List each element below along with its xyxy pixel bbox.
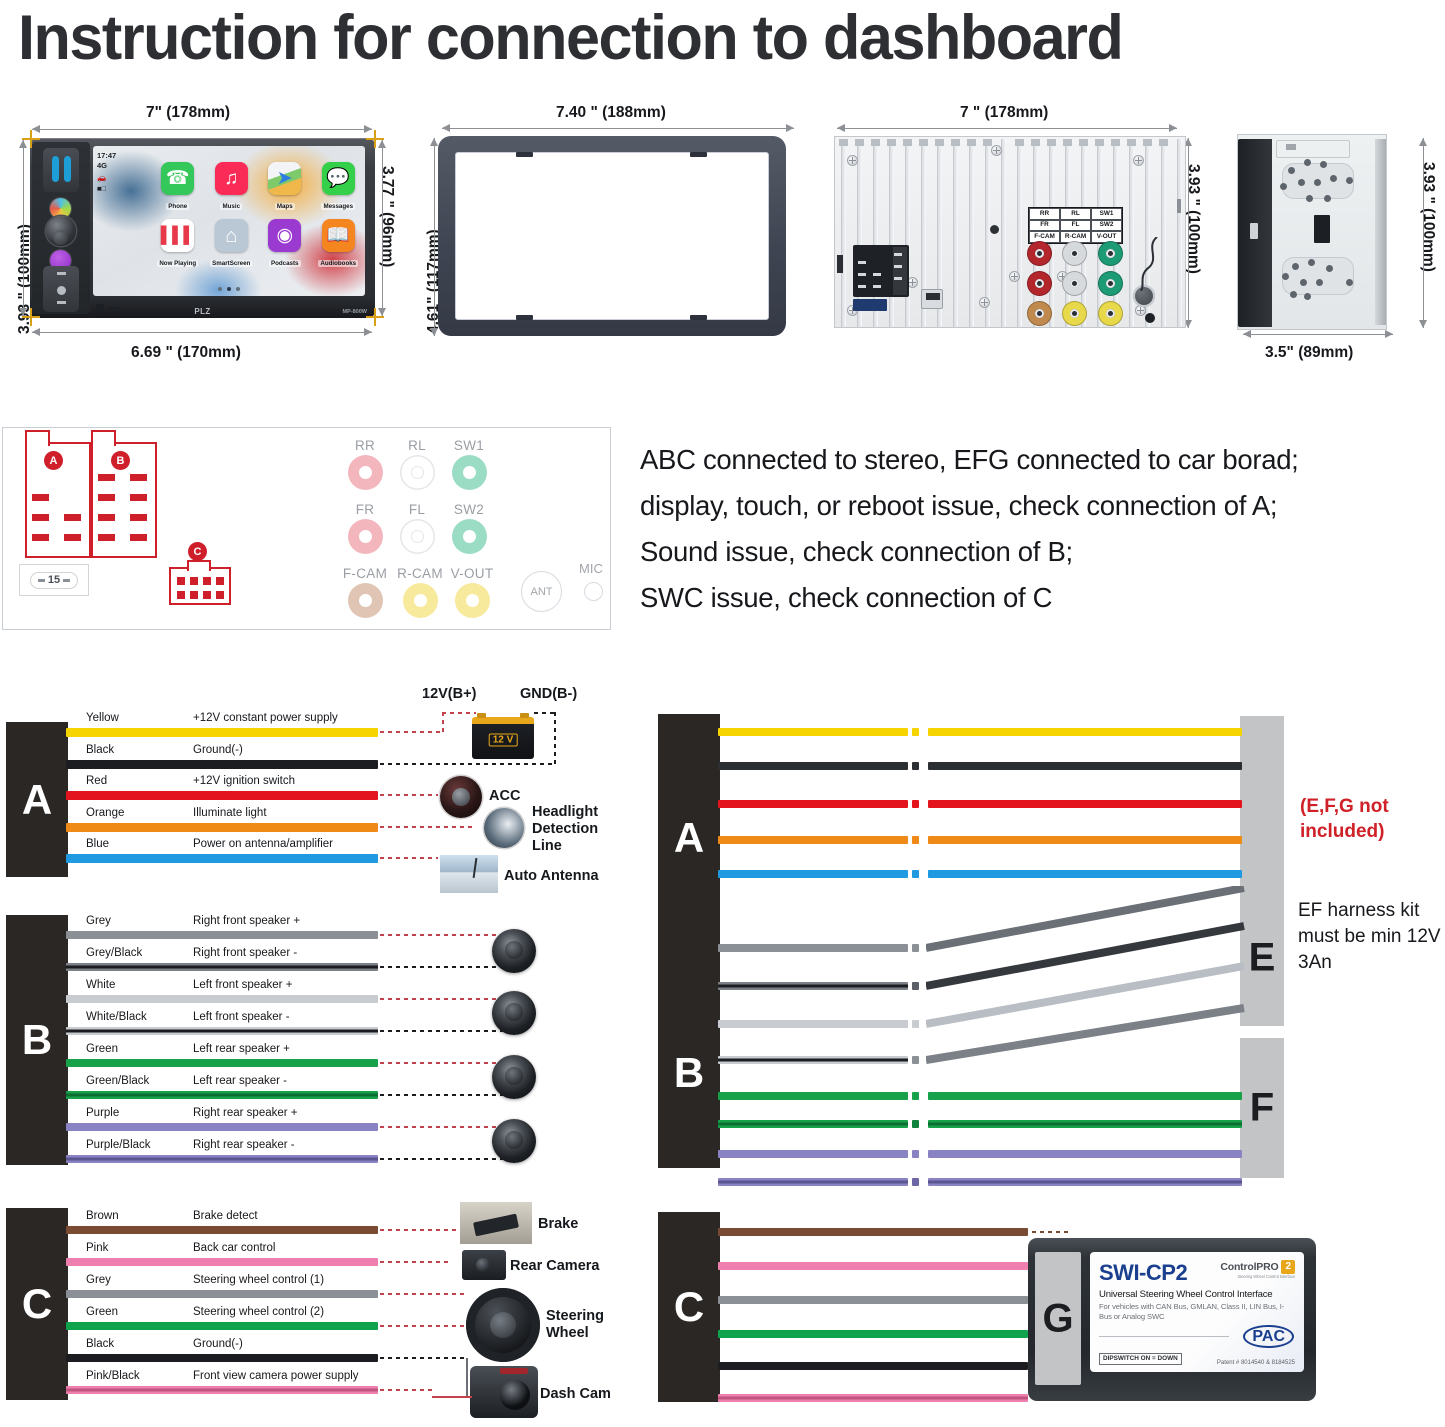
wire-name: Blue [86, 838, 109, 850]
rear-rca-jacks [1027, 241, 1125, 326]
wire-name: Black [86, 1338, 114, 1350]
wire-name: Green [86, 1043, 118, 1055]
wire-function: Right front speaker - [193, 947, 297, 959]
right-wire-pink-black-c [718, 1394, 1028, 1402]
menu-button[interactable] [96, 304, 120, 312]
wire-name: Purple/Black [86, 1139, 151, 1151]
app-audiobooks[interactable]: 📖 Audiobooks [316, 219, 362, 270]
wire-function: +12V ignition switch [193, 775, 295, 787]
status-clock: 17:47 [97, 151, 116, 161]
app-label: Podcasts [269, 260, 301, 267]
mic-socket[interactable] [584, 582, 603, 601]
mic-label: MIC [579, 561, 603, 576]
corner-mark-tr [366, 130, 384, 148]
app-music[interactable]: ♫ Music [209, 162, 255, 213]
side-view-faceplate [1238, 139, 1272, 327]
wire-black-ground [66, 1354, 378, 1362]
harness-b-diagram: B Grey Right front speaker + Grey/Black … [0, 905, 620, 1170]
dim-top-label-chassis: 7 " (178mm) [960, 104, 1048, 122]
wire-green [66, 1059, 378, 1067]
rear-camera-label: Rear Camera [510, 1258, 599, 1275]
wire-function: Back car control [193, 1242, 275, 1254]
maps-icon: ➤ [268, 162, 301, 195]
wire-function: Left rear speaker - [193, 1075, 287, 1087]
battery-negative-trace [534, 712, 556, 714]
right-wire-green-black-2 [928, 1120, 1242, 1128]
dimension-panel-rear-chassis: 7 " (178mm) 3.93 " (100mm) [820, 96, 1220, 386]
status-bar: 17:47 4G 🚗 ■□ [97, 151, 116, 195]
wire-b-dots-6 [380, 1094, 506, 1096]
wire-b-dots-1 [380, 934, 506, 936]
rca-jack-sw1[interactable] [1098, 241, 1123, 266]
jack-label: RL [1060, 208, 1091, 220]
brake-pedal-icon [460, 1202, 532, 1244]
steering-wheel-label-text: Steering Wheel [546, 1308, 604, 1341]
wire-function: Right rear speaker + [193, 1107, 298, 1119]
right-wire-white-black [718, 1056, 908, 1064]
dim-arrow-right [382, 140, 383, 316]
wire-name: Pink/Black [86, 1370, 140, 1382]
messages-icon: 💬 [322, 162, 355, 195]
jack-label: FR [339, 502, 391, 517]
chassis-screw-mm [1009, 271, 1020, 282]
antenna-socket[interactable]: ANT [521, 571, 562, 612]
wire-grey [66, 931, 378, 939]
harness-c-block: C [6, 1208, 68, 1400]
wire-a-dots-yellow [380, 731, 442, 733]
app-label: Maps [275, 203, 295, 210]
panel-jack-rcam[interactable]: R-CAM [389, 566, 451, 618]
app-smartscreen[interactable]: ⌂ SmartScreen [209, 219, 255, 270]
connector-panel: A B 15 C RR RL [2, 427, 611, 630]
dim-arrow-top [837, 128, 1177, 129]
wire-yellow [66, 728, 378, 737]
wire-name: Pink [86, 1242, 108, 1254]
swi-description: For vehicles with CAN Bus, GMLAN, Class … [1099, 1302, 1295, 1322]
wire-purple [66, 1123, 378, 1131]
jack-label: FR [1029, 220, 1060, 232]
panel-jack-fl[interactable]: FL [391, 502, 443, 554]
wire-orange [66, 823, 378, 832]
module-g-tab: G [1035, 1252, 1081, 1385]
dim-top-label-head-unit: 7" (178mm) [146, 104, 230, 122]
note-efg-text: (E,F,G not included) [1300, 796, 1389, 842]
wire-white-black [66, 1027, 378, 1035]
jack-label: SW1 [443, 438, 495, 453]
audiobooks-icon: 📖 [322, 219, 355, 252]
dash-cam-label: Dash Cam [540, 1386, 611, 1403]
right-wire-brown [718, 1228, 1028, 1236]
power-negative-label: GND(B-) [520, 686, 577, 702]
jack-ring [348, 583, 383, 618]
wire-function: Right rear speaker - [193, 1139, 295, 1151]
wire-c-dots-6 [380, 1389, 434, 1391]
right-block-b-letter: B [674, 1049, 704, 1097]
jack-label: RR [1029, 208, 1060, 220]
wire-function: Brake detect [193, 1210, 258, 1222]
frame-tab-bl [516, 315, 533, 320]
rca-jack-rr[interactable] [1027, 241, 1052, 266]
patent-note: Patent # 8014540 & 8184525 [1217, 1360, 1295, 1366]
dim-arrow-left [23, 140, 24, 316]
right-wire-black-c [718, 1362, 1028, 1370]
wiring-connector-block[interactable] [853, 245, 909, 297]
chassis-screw-tr [1133, 155, 1144, 166]
harness-a-letter: A [22, 776, 52, 824]
dim-arrow-top [442, 128, 794, 129]
frame-tab-tr [690, 152, 707, 157]
panel-jack-sw2[interactable]: SW2 [443, 502, 495, 554]
right-wire-red [718, 800, 908, 808]
dim-right-label-chassis: 3.93 " (100mm) [1184, 164, 1202, 274]
heatsink-fins [835, 137, 1185, 329]
wire-function: Ground(-) [193, 1338, 243, 1350]
app-label: Phone [166, 203, 189, 210]
right-block-e: E [1240, 716, 1284, 1026]
wire-red [66, 791, 378, 800]
wire-function: Right front speaker + [193, 915, 300, 927]
wire-pink-black [66, 1386, 378, 1394]
rca-jack-sw2[interactable] [1098, 271, 1123, 296]
app-label: Messages [321, 203, 355, 210]
antenna-wire [1135, 237, 1165, 291]
jack-ring [400, 455, 435, 490]
auto-antenna-label: Auto Antenna [504, 868, 599, 885]
connector-c-shape [169, 567, 231, 605]
wire-function: Left rear speaker + [193, 1043, 290, 1055]
phone-icon: ☎ [161, 162, 194, 195]
jack-ring [452, 455, 487, 490]
right-wire-purple-2 [928, 1150, 1242, 1158]
rca-jack-fcam[interactable] [1027, 301, 1052, 326]
right-wire-white [718, 1020, 908, 1028]
right-wire-green-c [718, 1330, 1028, 1338]
harness-c-letter: C [22, 1280, 52, 1328]
connector-c-badge: C [188, 542, 207, 561]
rca-jack-vout[interactable] [1098, 301, 1123, 326]
side-view-rear-edge [1375, 139, 1386, 325]
wire-green-swc2 [66, 1322, 378, 1330]
jack-ring [400, 519, 435, 554]
page-title: Instruction for connection to dashboard [18, 2, 1395, 74]
wire-function: Illuminate light [193, 807, 267, 819]
rear-camera-icon [462, 1250, 506, 1280]
right-block-e-letter: E [1249, 935, 1276, 980]
carplay-app-grid: ☎ Phone ♫ Music ➤ Maps 💬 Messages [155, 162, 361, 270]
wire-purple-black [66, 1155, 378, 1163]
dim-top-label-frame: 7.40 " (188mm) [556, 104, 666, 122]
app-label: Now Playing [157, 260, 198, 267]
instruction-line-2: display, touch, or reboot issue, check c… [640, 483, 1440, 529]
right-wire-pink [718, 1262, 1028, 1270]
battery-icon: 12 V [472, 717, 534, 759]
right-wire-green [718, 1092, 908, 1100]
panel-jack-fcam[interactable]: F-CAM [333, 566, 397, 618]
wire-function: Steering wheel control (2) [193, 1306, 324, 1318]
connector-a-badge: A [44, 451, 63, 470]
wire-a-dots-orange [380, 826, 472, 828]
wire-name: Purple [86, 1107, 119, 1119]
panel-jack-fr[interactable]: FR [339, 502, 391, 554]
right-block-a-letter: A [674, 814, 704, 862]
right-wire-red-2 [928, 800, 1242, 808]
app-podcasts[interactable]: ◉ Podcasts [262, 219, 308, 270]
speaker-icon [492, 1119, 536, 1163]
harness-b-block: B [6, 915, 68, 1165]
podcasts-icon: ◉ [268, 219, 301, 252]
dipswitch-note: DIPSWITCH ON = DOWN [1099, 1353, 1182, 1365]
side-view-body [1237, 134, 1387, 330]
headlight-label-text: Headlight Detection Line [532, 804, 598, 854]
steering-wheel-icon [466, 1288, 540, 1362]
jack-ring [348, 455, 383, 490]
harness-c-diagram: C Brown Brake detect Pink Back car contr… [0, 1198, 620, 1423]
right-wire-purple-black-2 [928, 1178, 1242, 1186]
wire-c-dots-1 [380, 1229, 460, 1231]
frame-tab-tl [516, 152, 533, 157]
jack-label: FL [391, 502, 443, 517]
wire-b-dots-5 [380, 1062, 506, 1064]
wire-name: Grey [86, 1274, 111, 1286]
app-now-playing[interactable]: ▌▌▌ Now Playing [155, 219, 201, 270]
controlpro-badge: 2 [1281, 1260, 1295, 1274]
rca-jack-fr[interactable] [1027, 271, 1052, 296]
trim-frame-outer [438, 136, 786, 336]
status-signal: 4G [97, 161, 116, 171]
chassis-screw-bm [979, 297, 990, 308]
chassis-screw-tm [991, 145, 1002, 156]
steering-wheel-label: Steering Wheel [546, 1308, 616, 1342]
wire-c-dots-2 [380, 1261, 452, 1263]
app-maps[interactable]: ➤ Maps [262, 162, 308, 213]
instruction-line-1: ABC connected to stereo, EFG connected t… [640, 437, 1440, 483]
pac-logo: PAC [1243, 1325, 1294, 1348]
usb-port[interactable] [921, 289, 943, 309]
fuse-amp-value: 15 [48, 574, 60, 586]
connector-b-badge: B [111, 451, 130, 470]
trim-frame-opening [455, 152, 769, 320]
speaker-icon [492, 929, 536, 973]
dots-brown-to-g [1032, 1231, 1072, 1233]
right-block-f: F [1240, 1038, 1284, 1178]
app-messages[interactable]: 💬 Messages [316, 162, 362, 213]
jack-ring [455, 583, 490, 618]
jack-label: V-OUT [443, 566, 501, 581]
right-wire-grey-black [718, 982, 908, 990]
wire-function: +12V constant power supply [193, 712, 338, 724]
right-wire-purple-black [718, 1178, 908, 1186]
volume-knob-center [53, 230, 68, 245]
volume-knob[interactable] [46, 216, 76, 246]
wire-name: Red [86, 775, 107, 787]
head-unit-button-top[interactable] [43, 148, 79, 192]
wire-name: Green/Black [86, 1075, 149, 1087]
right-wire-green-2 [928, 1092, 1242, 1100]
wire-function: Left front speaker + [193, 979, 292, 991]
wire-c-dots-3 [380, 1293, 466, 1295]
jack-label: RR [339, 438, 391, 453]
jack-label: FL [1060, 220, 1091, 232]
dimension-panels-row: 7" (178mm) 3.93 " (100mm) 3.77 " (96mm) … [0, 96, 1445, 386]
right-wire-yellow-2 [928, 728, 1242, 736]
dim-arrow-top [32, 129, 372, 130]
wire-name: White [86, 979, 115, 991]
rear-jack-label-grid: RR RL SW1 FR FL SW2 F-CAM R-CAM V-OUT [1028, 207, 1123, 244]
app-label: SmartScreen [210, 260, 252, 267]
right-wire-blue [718, 870, 908, 878]
wire-b-dots-3 [380, 998, 506, 1000]
corner-mark-bl [22, 308, 40, 326]
acc-label: ACC [489, 788, 520, 805]
wire-function: Front view camera power supply [193, 1370, 359, 1382]
controlpro-brand: ControlPRO [1220, 1261, 1278, 1273]
right-wire-orange [718, 836, 908, 844]
power-positive-label: 12V(B+) [422, 686, 476, 702]
jack-label: SW2 [443, 502, 495, 517]
harness-b-letter: B [22, 1016, 52, 1064]
wire-a-dots-black [380, 763, 556, 765]
right-wire-grey [718, 944, 908, 952]
now-playing-icon: ▌▌▌ [161, 219, 194, 252]
acc-ignition-icon [440, 776, 482, 818]
music-icon: ♫ [215, 162, 248, 195]
wire-function: Steering wheel control (1) [193, 1274, 324, 1286]
wire-b-dots-8 [380, 1158, 506, 1160]
panel-jack-rl[interactable]: RL [391, 438, 443, 490]
dimension-panel-side-view: 3.93 " (100mm) 3.5" (89mm) [1215, 96, 1445, 386]
wire-c-dots-4 [380, 1325, 466, 1327]
wire-name: Grey/Black [86, 947, 142, 959]
instruction-line-3: Sound issue, check connection of B; [640, 529, 1440, 575]
wire-green-black [66, 1091, 378, 1099]
panel-jack-sw1[interactable]: SW1 [443, 438, 495, 490]
right-wire-yellow [718, 728, 908, 736]
jack-label: SW2 [1091, 220, 1122, 232]
corner-mark-tl [22, 130, 40, 148]
wire-c-dots-5 [380, 1357, 466, 1359]
speaker-icon [492, 991, 536, 1035]
wire-function: Left front speaker - [193, 1011, 290, 1023]
dim-arrow-bottom [1243, 334, 1393, 335]
right-block-c: C [658, 1212, 720, 1402]
dim-arrow-bottom [32, 332, 372, 333]
side-view-slot [1314, 215, 1330, 243]
app-label: Music [220, 203, 242, 210]
swi-cp2-module: G SWI-CP2 ControlPRO 2 Steering Wheel Co… [1028, 1238, 1316, 1401]
wire-a-dots-blue [380, 857, 438, 859]
dimension-panel-trim-frame: 7.40 " (188mm) 4.61" (117mm) 3.81 " (97m… [410, 96, 820, 386]
wire-pink [66, 1258, 378, 1266]
crossing-wires-to-e [926, 886, 1246, 1076]
note-ef-harness-kit: EF harness kit must be min 12V 3An [1298, 898, 1445, 976]
head-unit-body: 17:47 4G 🚗 ■□ ☎ Phone ♫ Music ➤ [30, 138, 375, 318]
page-indicator-dots [218, 287, 240, 291]
head-unit-button-bottom[interactable] [43, 266, 79, 312]
head-unit-left-rail [32, 142, 90, 314]
wire-name: Yellow [86, 712, 119, 724]
head-unit-model: MP-800W [343, 309, 367, 315]
right-wire-blue-2 [928, 870, 1242, 878]
auto-antenna-icon [440, 855, 498, 893]
jack-label: SW1 [1091, 208, 1122, 220]
wire-grey-swc1 [66, 1290, 378, 1298]
rca-jack-fl[interactable] [1062, 271, 1087, 296]
fuse-rating: 15 [30, 572, 78, 589]
dimension-panel-head-unit: 7" (178mm) 3.93 " (100mm) 3.77 " (96mm) … [0, 96, 400, 386]
panel-jack-rr[interactable]: RR [339, 438, 391, 490]
swi-model: SWI-CP2 [1099, 1260, 1187, 1286]
carplay-screen[interactable]: 17:47 4G 🚗 ■□ ☎ Phone ♫ Music ➤ [93, 146, 365, 296]
battery-icon: ■□ [97, 184, 116, 194]
right-wire-grey-c [718, 1296, 1028, 1304]
car-icon: 🚗 [97, 173, 116, 183]
harness-a-block: A [6, 722, 68, 877]
wire-b-dots-2 [380, 966, 506, 968]
jack-label: R-CAM [389, 566, 451, 581]
rca-jack-rl[interactable] [1062, 241, 1087, 266]
wire-name: Grey [86, 915, 111, 927]
swi-cp2-label: SWI-CP2 ControlPRO 2 Steering Wheel Cont… [1090, 1252, 1304, 1372]
wire-name: Black [86, 744, 114, 756]
wire-function: Power on antenna/amplifier [193, 838, 333, 850]
right-block-b: B [658, 918, 720, 1168]
speaker-icon [492, 1055, 536, 1099]
headlight-label: Headlight Detection Line [532, 804, 610, 855]
wire-brown [66, 1226, 378, 1234]
wire-name: Orange [86, 807, 124, 819]
chassis-screw-tl [847, 155, 858, 166]
wire-white [66, 995, 378, 1003]
app-phone[interactable]: ☎ Phone [155, 162, 201, 213]
rca-jack-rcam[interactable] [1062, 301, 1087, 326]
jack-ring [348, 519, 383, 554]
dim-arrow-left [434, 138, 435, 336]
dim-arrow-right [1188, 138, 1189, 328]
battery-label: 12 V [489, 734, 518, 747]
wire-b-dots-7 [380, 1126, 506, 1128]
brake-label: Brake [538, 1216, 578, 1233]
app-label: Audiobooks [318, 260, 358, 267]
battery-positive-trace [442, 712, 476, 714]
swi-subtitle: Universal Steering Wheel Control Interfa… [1099, 1289, 1295, 1300]
wire-name: Brown [86, 1210, 119, 1222]
wire-name: Green [86, 1306, 118, 1318]
right-wire-orange-2 [928, 836, 1242, 844]
jack-ring [403, 583, 438, 618]
module-g-letter: G [1042, 1296, 1073, 1341]
harness-a-diagram: A Yellow +12V constant power supply Blac… [0, 700, 620, 900]
wire-a-dots-red [380, 794, 438, 796]
right-block-c-letter: C [674, 1283, 704, 1331]
panel-jack-vout[interactable]: V-OUT [443, 566, 501, 618]
note-ef-text: EF harness kit must be min 12V 3An [1298, 900, 1441, 973]
wire-name: White/Black [86, 1011, 147, 1023]
smartscreen-icon: ⌂ [215, 219, 248, 252]
right-wire-black [718, 762, 908, 770]
right-wire-purple [718, 1150, 908, 1158]
jack-ring [452, 519, 487, 554]
fuse-holder: 15 [19, 564, 89, 596]
right-block-f-letter: F [1250, 1086, 1274, 1131]
dash-cam-icon [470, 1366, 538, 1418]
rear-chassis-body: RR RL SW1 FR FL SW2 F-CAM R-CAM V-OUT [834, 136, 1186, 328]
corner-mark-br [366, 308, 384, 326]
wire-function: Ground(-) [193, 744, 243, 756]
instruction-text-block: ABC connected to stereo, EFG connected t… [640, 437, 1440, 621]
dim-arrow-right [1423, 138, 1424, 328]
controlpro-subtitle: Steering Wheel Control Interface [1220, 1274, 1295, 1279]
jack-label: RL [391, 438, 443, 453]
